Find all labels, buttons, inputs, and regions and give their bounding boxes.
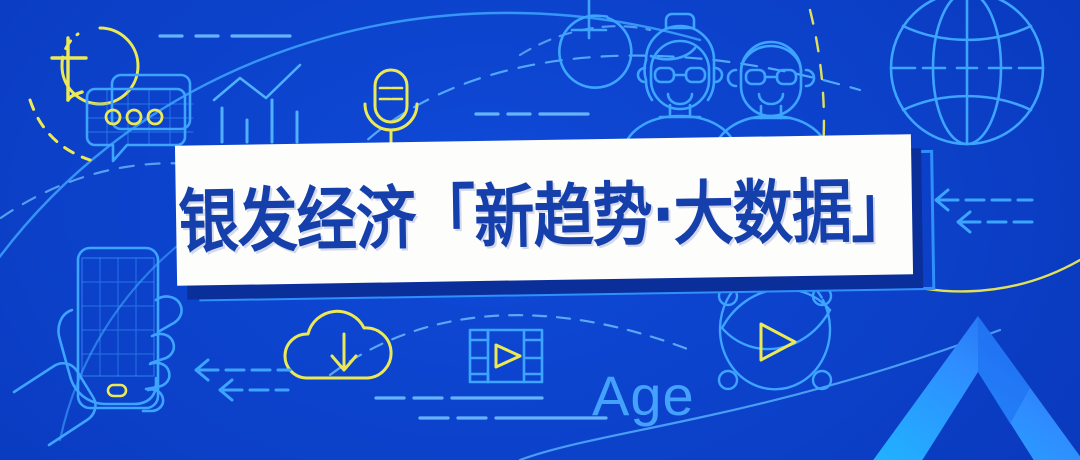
clock-dial-icon [30,28,138,160]
title-banner: 银发经济「新趋势·大数据」 [175,134,913,286]
film-play-icon [470,330,542,382]
chevron-logo [866,316,1080,460]
poster-canvas: Age 银发经济「新趋势·大数据」 [0,0,1080,460]
page-title: 银发经济「新趋势·大数据」 [177,154,910,266]
hand-phone-icon [14,248,182,445]
banner-plate: 银发经济「新趋势·大数据」 [175,134,913,286]
clock-icon [559,0,631,88]
bar-chart-icon [214,65,300,142]
age-wordmark: Age [592,368,695,424]
dashed-arrow-left-icon [196,360,290,400]
dashed-arrow-left-icon [936,190,1032,232]
globe-icon [891,0,1043,144]
